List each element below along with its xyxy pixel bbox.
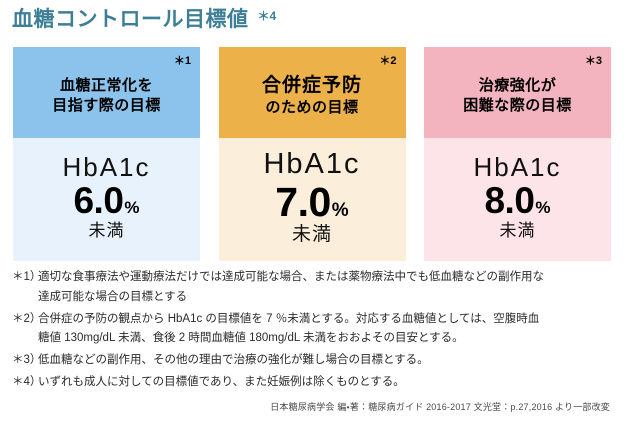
metric-value-row: 6.0 % xyxy=(73,182,139,221)
metric-caption: 未満 xyxy=(500,222,536,241)
footnote-marker: ＊1） xyxy=(12,268,38,288)
panel-title-line1: 血糖正常化を xyxy=(60,76,153,95)
metric-unit: % xyxy=(535,199,550,216)
panel-body-complication-prevention: HbA1c 7.0 % 未満 xyxy=(219,138,406,261)
panel-header-complication-prevention: ＊2 合併症予防 のための目標 xyxy=(219,47,406,138)
panel-footnote-marker: ＊2 xyxy=(379,56,396,67)
panel-complication-prevention: ＊2 合併症予防 のための目標 HbA1c 7.0 % 未満 xyxy=(219,47,406,261)
footnote-line: 適切な食事療法や運動療法だけでは達成可能な場合、または薬物療法中でも低血糖などの… xyxy=(38,268,616,288)
metric-value: 7.0 xyxy=(275,181,331,224)
panel-intensification-difficult: ＊3 治療強化が 困難な際の目標 HbA1c 8.0 % 未満 xyxy=(424,47,611,261)
panel-title-line2: のための目標 xyxy=(265,98,358,117)
metric-value-row: 8.0 % xyxy=(484,182,550,221)
panel-title-line1: 合併症予防 xyxy=(262,74,362,98)
panel-footnote-marker: ＊1 xyxy=(174,56,191,67)
metric-value: 6.0 xyxy=(73,182,123,221)
page-title-text: 血糖コントロール目標値 xyxy=(12,9,249,30)
footnote-line: 合併症の予防の観点から HbA1c の目標値を 7 ％未満とする。対応する血糖値… xyxy=(38,310,616,330)
footnote-line: いずれも成人に対しての目標値であり、また妊娠例は除くものとする。 xyxy=(38,373,616,393)
panel-title-line2: 困難な際の目標 xyxy=(463,96,572,115)
metric-unit: % xyxy=(332,201,349,220)
metric-label: HbA1c xyxy=(62,154,150,181)
panel-title-line2: 目指す際の目標 xyxy=(52,96,161,115)
infographic-root: 血糖コントロール目標値 ＊4 ＊1 血糖正常化を 目指す際の目標 HbA1c 6… xyxy=(0,0,624,426)
panel-body-intensification-difficult: HbA1c 8.0 % 未満 xyxy=(424,138,611,261)
footnote-marker: ＊4） xyxy=(12,373,38,393)
source-citation: 日本糖尿病学会 編・著：糖尿病ガイド 2016-2017 文光堂：p.27,20… xyxy=(270,400,610,413)
footnote-line: 達成可能な場合の目標とする xyxy=(38,288,616,308)
metric-value-row: 7.0 % xyxy=(275,181,348,224)
footnote-3: ＊3） 低血糖などの副作用、その他の理由で治療の強化が難し場合の目標とする。 xyxy=(12,351,616,371)
footnote-marker: ＊3） xyxy=(12,351,38,371)
metric-label: HbA1c xyxy=(473,154,561,181)
footnote-marker: ＊2） xyxy=(12,310,38,330)
panel-header-normalization: ＊1 血糖正常化を 目指す際の目標 xyxy=(13,47,200,138)
panel-title-line1: 治療強化が xyxy=(479,76,557,95)
footnote-text: 合併症の予防の観点から HbA1c の目標値を 7 ％未満とする。対応する血糖値… xyxy=(38,310,616,350)
footnote-line: 低血糖などの副作用、その他の理由で治療の強化が難し場合の目標とする。 xyxy=(38,351,616,371)
footnotes: ＊1） 適切な食事療法や運動療法だけでは達成可能な場合、または薬物療法中でも低血… xyxy=(12,268,616,395)
footnote-text: いずれも成人に対しての目標値であり、また妊娠例は除くものとする。 xyxy=(38,373,616,393)
footnote-1: ＊1） 適切な食事療法や運動療法だけでは達成可能な場合、または薬物療法中でも低血… xyxy=(12,268,616,308)
target-panels: ＊1 血糖正常化を 目指す際の目標 HbA1c 6.0 % 未満 ＊2 合併症予… xyxy=(13,47,611,261)
metric-unit: % xyxy=(124,199,139,216)
footnote-text: 低血糖などの副作用、その他の理由で治療の強化が難し場合の目標とする。 xyxy=(38,351,616,371)
panel-body-normalization: HbA1c 6.0 % 未満 xyxy=(13,138,200,261)
footnote-4: ＊4） いずれも成人に対しての目標値であり、また妊娠例は除くものとする。 xyxy=(12,373,616,393)
panel-normalization: ＊1 血糖正常化を 目指す際の目標 HbA1c 6.0 % 未満 xyxy=(13,47,200,261)
footnote-line: 糖値 130mg/dL 未満、食後 2 時間血糖値 180mg/dL 未満をおお… xyxy=(38,329,616,349)
footnote-2: ＊2） 合併症の予防の観点から HbA1c の目標値を 7 ％未満とする。対応す… xyxy=(12,310,616,350)
page-title: 血糖コントロール目標値 ＊4 xyxy=(12,9,276,30)
metric-caption: 未満 xyxy=(292,225,332,246)
footnote-text: 適切な食事療法や運動療法だけでは達成可能な場合、または薬物療法中でも低血糖などの… xyxy=(38,268,616,308)
metric-value: 8.0 xyxy=(484,182,534,221)
page-title-footnote-marker: ＊4 xyxy=(258,10,277,22)
metric-label: HbA1c xyxy=(263,149,360,179)
panel-footnote-marker: ＊3 xyxy=(585,56,602,67)
panel-header-intensification-difficult: ＊3 治療強化が 困難な際の目標 xyxy=(424,47,611,138)
metric-caption: 未満 xyxy=(89,222,125,241)
